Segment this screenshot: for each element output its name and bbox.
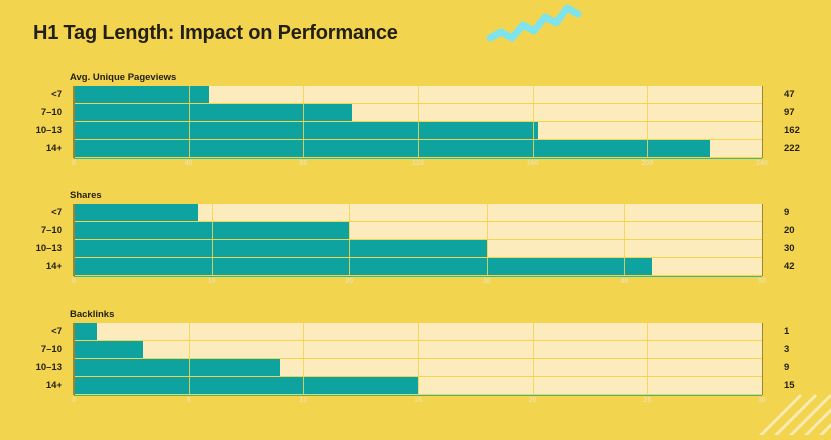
tick-label: 5 bbox=[187, 397, 191, 404]
gridline bbox=[647, 377, 648, 394]
gridline bbox=[533, 86, 534, 103]
bar-row: <79 bbox=[0, 204, 831, 221]
y-axis-line bbox=[73, 204, 75, 276]
tick-label: 30 bbox=[483, 278, 491, 285]
value-axis-line bbox=[762, 86, 764, 158]
tick-label: 160 bbox=[527, 160, 539, 167]
bar-track bbox=[74, 140, 762, 157]
bar-track bbox=[74, 104, 762, 121]
bar bbox=[74, 240, 487, 257]
gridline bbox=[189, 377, 190, 394]
bar-track bbox=[74, 204, 762, 221]
gridline bbox=[418, 359, 419, 376]
gridline bbox=[533, 341, 534, 358]
gridline bbox=[624, 240, 625, 257]
tick-label: 50 bbox=[758, 278, 766, 285]
tick-label: 0 bbox=[72, 160, 76, 167]
gridline bbox=[418, 341, 419, 358]
gridline bbox=[533, 323, 534, 340]
tick-label: 40 bbox=[620, 278, 628, 285]
category-label: 7–10 bbox=[0, 104, 68, 121]
chart-title: Backlinks bbox=[70, 309, 114, 320]
bar bbox=[74, 323, 97, 340]
tick-label: 40 bbox=[185, 160, 193, 167]
bar bbox=[74, 258, 652, 275]
category-label: 7–10 bbox=[0, 341, 68, 358]
gridline bbox=[533, 359, 534, 376]
gridline bbox=[647, 140, 648, 157]
gridline bbox=[212, 204, 213, 221]
gridline bbox=[349, 222, 350, 239]
x-axis-ticks: 01020304050 bbox=[74, 278, 762, 290]
tick-label: 0 bbox=[72, 397, 76, 404]
plot-area: <7477–109710–1316214+2220408012016020024… bbox=[0, 86, 831, 160]
gridline bbox=[212, 258, 213, 275]
gridline bbox=[647, 104, 648, 121]
tick-label: 200 bbox=[641, 160, 653, 167]
gridline bbox=[533, 140, 534, 157]
bar-row: 10–139 bbox=[0, 359, 831, 376]
value-axis-line bbox=[762, 204, 764, 276]
y-axis-line bbox=[73, 86, 75, 158]
value-label: 15 bbox=[775, 377, 831, 394]
gridline bbox=[303, 359, 304, 376]
gridline bbox=[487, 222, 488, 239]
category-label: <7 bbox=[0, 323, 68, 340]
gridline bbox=[647, 86, 648, 103]
gridline bbox=[418, 104, 419, 121]
gridline bbox=[624, 258, 625, 275]
zigzag-squiggle bbox=[487, 2, 583, 42]
gridline bbox=[487, 240, 488, 257]
bar-track bbox=[74, 86, 762, 103]
plot-area: <797–102010–133014+4201020304050 bbox=[0, 204, 831, 278]
category-label: 10–13 bbox=[0, 122, 68, 139]
value-label: 222 bbox=[775, 140, 831, 157]
gridline bbox=[624, 222, 625, 239]
gridline bbox=[303, 140, 304, 157]
bar-track bbox=[74, 122, 762, 139]
page-title: H1 Tag Length: Impact on Performance bbox=[33, 22, 398, 45]
value-label: 162 bbox=[775, 122, 831, 139]
tick-label: 10 bbox=[299, 397, 307, 404]
tick-label: 10 bbox=[208, 278, 216, 285]
gridline bbox=[533, 104, 534, 121]
bar-track bbox=[74, 222, 762, 239]
bottom-edge-bar bbox=[0, 435, 831, 440]
bar-track bbox=[74, 341, 762, 358]
bar bbox=[74, 140, 710, 157]
bar-track bbox=[74, 258, 762, 275]
bar-track bbox=[74, 377, 762, 394]
gridline bbox=[189, 86, 190, 103]
x-axis-ticks: 04080120160200240 bbox=[74, 160, 762, 172]
tick-label: 240 bbox=[756, 160, 768, 167]
x-axis-line bbox=[74, 276, 762, 277]
gridline bbox=[189, 359, 190, 376]
tick-label: 120 bbox=[412, 160, 424, 167]
tick-label: 20 bbox=[529, 397, 537, 404]
gridline bbox=[349, 258, 350, 275]
bar bbox=[74, 341, 143, 358]
x-axis-line bbox=[74, 395, 762, 396]
y-axis-line bbox=[73, 323, 75, 395]
bar bbox=[74, 359, 280, 376]
bar-track bbox=[74, 359, 762, 376]
category-label: 14+ bbox=[0, 377, 68, 394]
gridline bbox=[487, 258, 488, 275]
gridline bbox=[647, 341, 648, 358]
gridline bbox=[189, 122, 190, 139]
bar bbox=[74, 377, 418, 394]
tick-label: 30 bbox=[758, 397, 766, 404]
bar-row: 14+222 bbox=[0, 140, 831, 157]
bar-row: 14+42 bbox=[0, 258, 831, 275]
gridline bbox=[349, 204, 350, 221]
category-label: 14+ bbox=[0, 258, 68, 275]
gridline bbox=[647, 359, 648, 376]
bar-row: 14+15 bbox=[0, 377, 831, 394]
gridline bbox=[303, 341, 304, 358]
tick-label: 25 bbox=[643, 397, 651, 404]
value-label: 3 bbox=[775, 341, 831, 358]
gridline bbox=[533, 377, 534, 394]
bar-row: 7–1097 bbox=[0, 104, 831, 121]
tick-label: 80 bbox=[299, 160, 307, 167]
value-label: 30 bbox=[775, 240, 831, 257]
value-label: 97 bbox=[775, 104, 831, 121]
gridline bbox=[418, 323, 419, 340]
category-label: 10–13 bbox=[0, 240, 68, 257]
gridline bbox=[624, 204, 625, 221]
gridline bbox=[303, 122, 304, 139]
gridline bbox=[212, 222, 213, 239]
gridline bbox=[189, 323, 190, 340]
tick-label: 15 bbox=[414, 397, 422, 404]
gridline bbox=[647, 323, 648, 340]
value-label: 47 bbox=[775, 86, 831, 103]
gridline bbox=[533, 122, 534, 139]
gridline bbox=[303, 377, 304, 394]
bar-row: <71 bbox=[0, 323, 831, 340]
x-axis-ticks: 051015202530 bbox=[74, 397, 762, 409]
gridline bbox=[418, 86, 419, 103]
gridline bbox=[303, 86, 304, 103]
gridline bbox=[189, 140, 190, 157]
value-label: 42 bbox=[775, 258, 831, 275]
bar-row: 10–13162 bbox=[0, 122, 831, 139]
value-label: 1 bbox=[775, 323, 831, 340]
plot-area: <717–10310–13914+15051015202530 bbox=[0, 323, 831, 397]
bar bbox=[74, 104, 352, 121]
gridline bbox=[189, 341, 190, 358]
bar-row: 7–1020 bbox=[0, 222, 831, 239]
value-label: 20 bbox=[775, 222, 831, 239]
gridline bbox=[487, 204, 488, 221]
chart-title: Avg. Unique Pageviews bbox=[70, 72, 176, 83]
value-label: 9 bbox=[775, 204, 831, 221]
chart-title: Shares bbox=[70, 190, 102, 201]
bar bbox=[74, 204, 198, 221]
category-label: <7 bbox=[0, 86, 68, 103]
gridline bbox=[303, 323, 304, 340]
bar-row: 7–103 bbox=[0, 341, 831, 358]
gridline bbox=[189, 104, 190, 121]
gridline bbox=[418, 377, 419, 394]
category-label: 14+ bbox=[0, 140, 68, 157]
gridline bbox=[212, 240, 213, 257]
tick-label: 20 bbox=[345, 278, 353, 285]
bar-row: 10–1330 bbox=[0, 240, 831, 257]
bar-track bbox=[74, 240, 762, 257]
gridline bbox=[418, 140, 419, 157]
gridline bbox=[303, 104, 304, 121]
bar-row: <747 bbox=[0, 86, 831, 103]
bar-track bbox=[74, 323, 762, 340]
gridline bbox=[349, 240, 350, 257]
gridline bbox=[647, 122, 648, 139]
bar bbox=[74, 122, 538, 139]
tick-label: 0 bbox=[72, 278, 76, 285]
value-label: 9 bbox=[775, 359, 831, 376]
category-label: <7 bbox=[0, 204, 68, 221]
gridline bbox=[418, 122, 419, 139]
x-axis-line bbox=[74, 158, 762, 159]
value-axis-line bbox=[762, 323, 764, 395]
category-label: 10–13 bbox=[0, 359, 68, 376]
category-label: 7–10 bbox=[0, 222, 68, 239]
